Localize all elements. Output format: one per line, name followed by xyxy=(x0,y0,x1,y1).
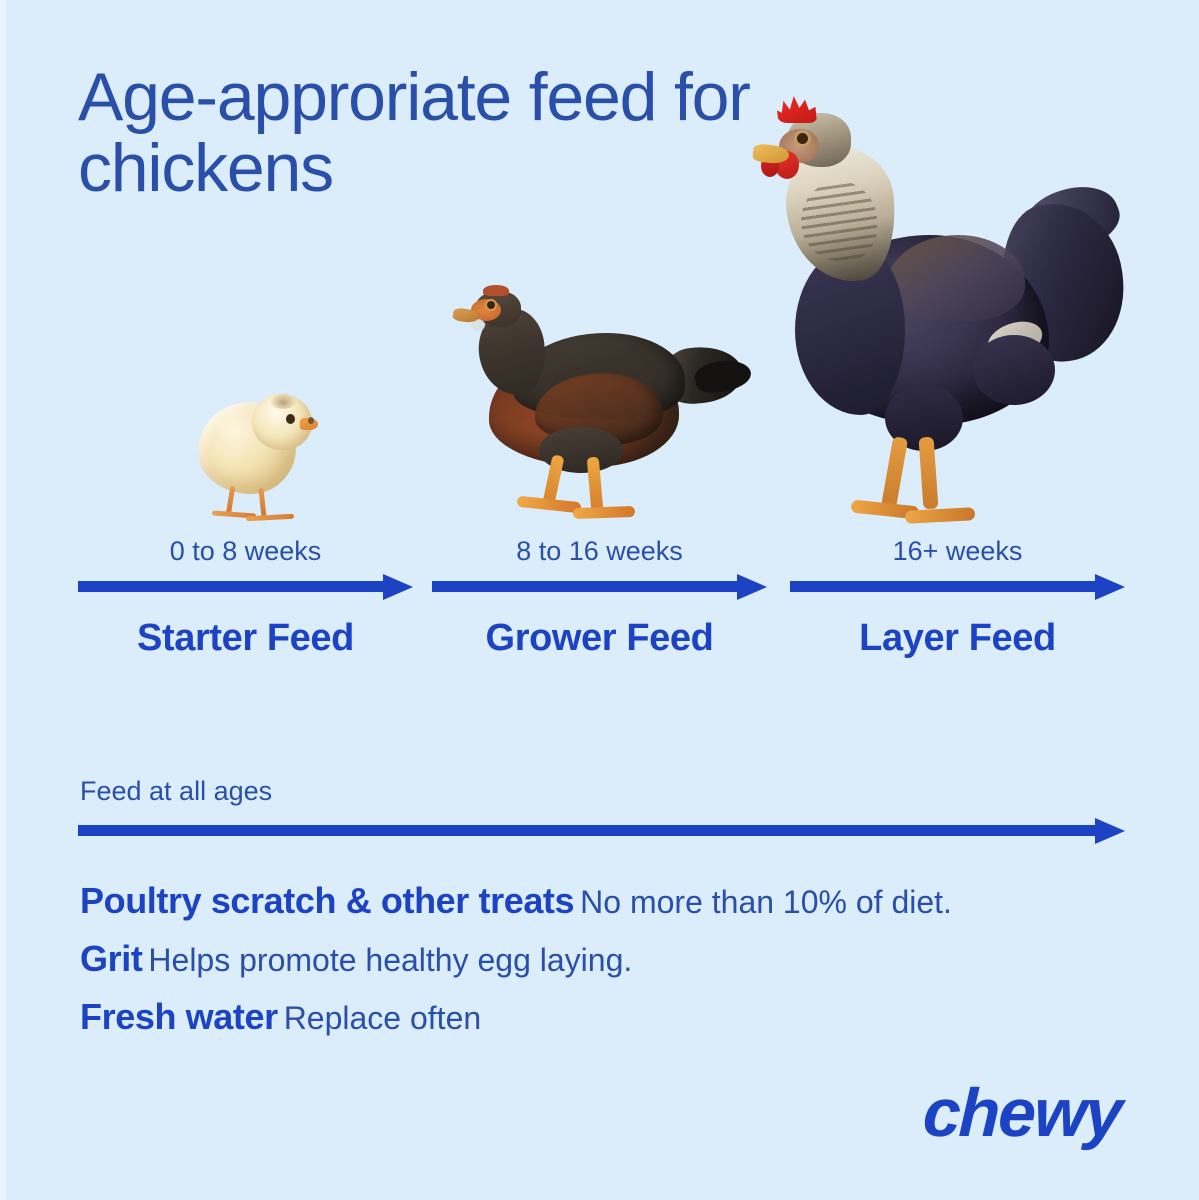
arrow-head xyxy=(1095,818,1125,844)
arrow-shaft xyxy=(432,581,737,592)
pullet-comb xyxy=(483,285,509,296)
chewy-logo[interactable]: chewy xyxy=(922,1074,1123,1152)
list-item-desc: Replace often xyxy=(284,1000,481,1036)
arrow-shaft xyxy=(78,825,1095,836)
all-ages-list: Poultry scratch & other treatsNo more th… xyxy=(80,880,1140,1054)
arrow-head xyxy=(1095,574,1125,600)
chick-eye xyxy=(286,414,295,424)
all-ages-arrow-icon xyxy=(78,818,1125,844)
arrow-shaft xyxy=(790,581,1095,592)
list-item-term: Grit xyxy=(80,938,142,979)
pullet-chicken-image xyxy=(455,285,755,535)
list-item-desc: Helps promote healthy egg laying. xyxy=(148,942,632,978)
stage-feed-label: Layer Feed xyxy=(790,617,1125,660)
feed-stage-timeline: 0 to 8 weeks Starter Feed 8 to 16 weeks … xyxy=(0,536,1199,681)
stage-age-label: 8 to 16 weeks xyxy=(432,536,767,567)
list-item: Fresh waterReplace often xyxy=(80,996,1140,1038)
page-title: Age-approriate feed for chickens xyxy=(78,62,778,203)
stage-feed-label: Starter Feed xyxy=(78,617,413,660)
stage-layer: 16+ weeks Layer Feed xyxy=(790,536,1125,660)
all-ages-label: Feed at all ages xyxy=(80,776,272,807)
hen-leg-left xyxy=(881,436,908,510)
stage-grower: 8 to 16 weeks Grower Feed xyxy=(432,536,767,660)
stage-feed-label: Grower Feed xyxy=(432,617,767,660)
stage-age-label: 16+ weeks xyxy=(790,536,1125,567)
pullet-foot-left xyxy=(517,496,582,514)
stage-starter: 0 to 8 weeks Starter Feed xyxy=(78,536,413,660)
list-item: Poultry scratch & other treatsNo more th… xyxy=(80,880,1140,922)
pullet-eye xyxy=(487,301,495,309)
chick-leg-right xyxy=(258,488,266,518)
list-item-desc: No more than 10% of diet. xyxy=(580,884,952,920)
list-item-term: Fresh water xyxy=(80,996,278,1037)
arrow-head xyxy=(737,574,767,600)
infographic-canvas: Age-approriate feed for chickens xyxy=(0,0,1199,1200)
stage-arrow-icon xyxy=(790,575,1125,597)
stage-arrow-icon xyxy=(78,575,413,597)
list-item: GritHelps promote healthy egg laying. xyxy=(80,938,1140,980)
chick-crown xyxy=(270,393,296,409)
stage-arrow-icon xyxy=(432,575,767,597)
hen-fluff xyxy=(973,335,1055,405)
list-item-term: Poultry scratch & other treats xyxy=(80,880,574,921)
hen-neck-stripes xyxy=(801,181,877,261)
hen-comb-icon xyxy=(777,93,817,123)
pullet-foot-right xyxy=(573,506,635,519)
chick-foot-right xyxy=(246,514,294,522)
stage-age-label: 0 to 8 weeks xyxy=(78,536,413,567)
baby-chick-image xyxy=(190,388,330,533)
chick-eye-far xyxy=(308,417,314,424)
adult-hen-image xyxy=(735,85,1125,535)
hen-eye xyxy=(797,133,808,144)
arrow-shaft xyxy=(78,581,383,592)
hen-foot-right xyxy=(905,507,976,524)
arrow-head xyxy=(383,574,413,600)
